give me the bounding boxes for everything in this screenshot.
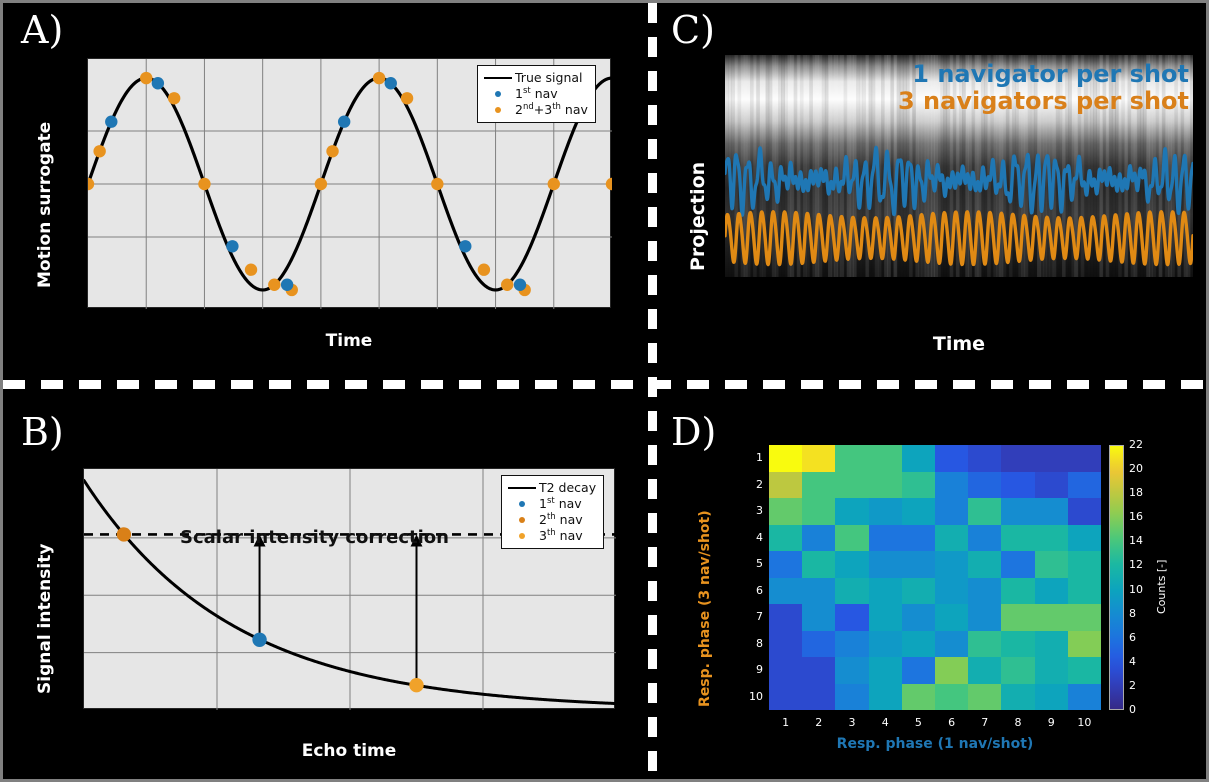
heatmap-cell [1068, 472, 1101, 499]
panel-d-label: D) [671, 413, 716, 451]
heatmap-cell [902, 445, 935, 472]
heatmap-cell [1035, 551, 1068, 578]
legend-dot-swatch [507, 517, 537, 523]
heatmap-cell [935, 445, 968, 472]
panel-c-ylabel: Projection [687, 162, 709, 271]
heatmap-cell [769, 684, 802, 711]
panel-c-annotation-3-nav: 3 navigators per shot [897, 87, 1189, 115]
panel-d-colorbar-tick: 14 [1129, 534, 1143, 547]
heatmap-cell [869, 604, 902, 631]
panel-c: C) Projection 1 navigator per shot 3 nav… [657, 3, 1209, 380]
heatmap-cell [835, 498, 868, 525]
heatmap-cell [935, 657, 968, 684]
heatmap-cell [769, 525, 802, 552]
panel-d-ytick: 4 [733, 531, 763, 544]
heatmap-cell [769, 657, 802, 684]
legend-line-swatch [483, 77, 513, 80]
panel-d-ytick: 7 [733, 610, 763, 623]
panel-a-legend-item: True signal [483, 70, 588, 86]
heatmap-cell [935, 525, 968, 552]
heatmap-cell [1001, 445, 1034, 472]
heatmap-cell [1001, 631, 1034, 658]
panel-d-ylabel: Resp. phase (3 nav/shot) [697, 510, 713, 707]
heatmap-cell [1001, 525, 1034, 552]
heatmap-cell [802, 684, 835, 711]
panel-b-ylabel: Signal intensity [35, 544, 55, 694]
heatmap-cell [802, 578, 835, 605]
heatmap-cell [968, 657, 1001, 684]
legend-item-label: 3th nav [537, 528, 583, 545]
heatmap-cell [935, 631, 968, 658]
panel-d-colorbar-tick: 16 [1129, 510, 1143, 523]
legend-item-label: 1st nav [537, 496, 582, 513]
panel-d-ytick: 2 [733, 478, 763, 491]
heatmap-cell [1035, 472, 1068, 499]
panel-d-xtick: 3 [837, 716, 867, 729]
panel-d-xtick: 7 [970, 716, 1000, 729]
heatmap-cell [769, 551, 802, 578]
heatmap-cell [802, 525, 835, 552]
heatmap-cell [802, 631, 835, 658]
heatmap-cell [1035, 684, 1068, 711]
legend-dot-swatch [483, 91, 513, 97]
panel-d-ytick: 6 [733, 584, 763, 597]
panel-a-legend-item: 1st nav [483, 86, 588, 102]
panel-d-xtick: 4 [870, 716, 900, 729]
heatmap-cell [935, 472, 968, 499]
heatmap-cell [1001, 551, 1034, 578]
heatmap-cell [869, 631, 902, 658]
heatmap-cell [1035, 445, 1068, 472]
heatmap-cell [902, 525, 935, 552]
panel-d-colorbar-tick: 10 [1129, 583, 1143, 596]
panel-d-xtick: 9 [1036, 716, 1066, 729]
heatmap-cell [902, 498, 935, 525]
panel-d-xtick: 2 [804, 716, 834, 729]
heatmap-cell [1068, 684, 1101, 711]
heatmap-cell [1068, 525, 1101, 552]
heatmap-cell [1001, 472, 1034, 499]
heatmap-cell [802, 551, 835, 578]
heatmap-cell [1068, 551, 1101, 578]
heatmap-cell [1035, 604, 1068, 631]
heatmap-cell [1001, 604, 1034, 631]
panel-b-legend-item: T2 decay [507, 480, 596, 496]
heatmap-cell [802, 472, 835, 499]
heatmap-cell [802, 657, 835, 684]
heatmap-cell [902, 657, 935, 684]
heatmap-cell [835, 684, 868, 711]
panel-a-legend: True signal1st nav2nd+3th nav [477, 65, 596, 123]
heatmap-cell [769, 445, 802, 472]
heatmap-cell [835, 525, 868, 552]
heatmap-cell [902, 631, 935, 658]
panel-d-ytick: 10 [733, 690, 763, 703]
heatmap-cell [968, 631, 1001, 658]
heatmap-cell [1001, 657, 1034, 684]
vertical-divider [648, 3, 657, 782]
panel-c-xlabel: Time [725, 333, 1193, 355]
heatmap-cell [869, 445, 902, 472]
heatmap-cell [935, 684, 968, 711]
horizontal-divider [3, 380, 1209, 389]
panel-d-ytick: 8 [733, 637, 763, 650]
panel-b-annotation: Scalar intensity correction [180, 527, 449, 548]
heatmap-cell [835, 578, 868, 605]
legend-dot-swatch [507, 533, 537, 539]
legend-dot-swatch [507, 501, 537, 507]
heatmap-cell [802, 604, 835, 631]
legend-item-label: 2th nav [537, 512, 583, 529]
heatmap-cell [869, 525, 902, 552]
panel-d-xtick: 10 [1069, 716, 1099, 729]
legend-item-label: T2 decay [537, 480, 596, 497]
heatmap-cell [869, 657, 902, 684]
panel-b-label: B) [21, 413, 64, 451]
heatmap-cell [1068, 657, 1101, 684]
heatmap-cell [1035, 631, 1068, 658]
panel-d-xtick: 6 [937, 716, 967, 729]
heatmap-cell [802, 498, 835, 525]
heatmap-cell [835, 551, 868, 578]
panel-d-ytick: 3 [733, 504, 763, 517]
panel-d-xlabel: Resp. phase (1 nav/shot) [769, 736, 1101, 752]
panel-d-colorbar-tick: 2 [1129, 679, 1136, 692]
legend-item-label: 1st nav [513, 86, 558, 103]
heatmap-cell [1035, 657, 1068, 684]
heatmap-cell [1035, 525, 1068, 552]
heatmap-cell [902, 472, 935, 499]
panel-d-ytick: 9 [733, 663, 763, 676]
heatmap-cell [1068, 578, 1101, 605]
panel-d-ytick: 5 [733, 557, 763, 570]
panel-b-legend: T2 decay1st nav2th nav3th nav [501, 475, 604, 549]
heatmap-cell [902, 551, 935, 578]
heatmap-cell [968, 498, 1001, 525]
panel-b: B) Signal intensity Scalar intensity cor… [3, 389, 648, 782]
panel-d-colorbar-tick: 8 [1129, 607, 1136, 620]
heatmap-cell [1035, 498, 1068, 525]
panel-d-colorbar-tick: 20 [1129, 462, 1143, 475]
heatmap-cell [769, 631, 802, 658]
heatmap-cell [968, 445, 1001, 472]
heatmap-cell [935, 578, 968, 605]
panel-d-colorbar-tick: 22 [1129, 438, 1143, 451]
heatmap-cell [902, 684, 935, 711]
heatmap-cell [902, 578, 935, 605]
panel-d-xtick: 1 [771, 716, 801, 729]
heatmap-cell [968, 472, 1001, 499]
heatmap-cell [935, 498, 968, 525]
heatmap-cell [902, 604, 935, 631]
panel-d: D) Resp. phase (3 nav/shot) Counts [-] R… [657, 389, 1209, 782]
panel-c-label: C) [671, 11, 715, 49]
panel-b-xlabel: Echo time [83, 741, 615, 761]
panel-a: A) Motion surrogate True signal1st nav2n… [3, 3, 648, 380]
heatmap-cell [1001, 684, 1034, 711]
panel-d-colorbar-tick: 12 [1129, 558, 1143, 571]
heatmap-cell [1001, 498, 1034, 525]
heatmap-cell [869, 472, 902, 499]
panel-b-legend-item: 3th nav [507, 528, 596, 544]
panel-d-xtick: 5 [903, 716, 933, 729]
heatmap-cell [769, 472, 802, 499]
heatmap-cell [869, 684, 902, 711]
heatmap-cell [935, 604, 968, 631]
legend-item-label: 2nd+3th nav [513, 102, 588, 119]
heatmap-cell [1035, 578, 1068, 605]
heatmap-cell [968, 578, 1001, 605]
heatmap-cell [802, 445, 835, 472]
heatmap-cell [869, 551, 902, 578]
heatmap-cell [835, 445, 868, 472]
legend-dot-swatch [483, 107, 513, 113]
heatmap-cell [1068, 631, 1101, 658]
heatmap-cell [968, 604, 1001, 631]
heatmap-cell [1001, 578, 1034, 605]
heatmap-cell [968, 551, 1001, 578]
panel-d-colorbar-tick: 0 [1129, 703, 1136, 716]
heatmap-cell [769, 578, 802, 605]
heatmap-cell [769, 604, 802, 631]
panel-b-legend-item: 2th nav [507, 512, 596, 528]
heatmap-cell [869, 498, 902, 525]
heatmap-cell [935, 551, 968, 578]
heatmap-cell [1068, 445, 1101, 472]
panel-d-colorbar-tick: 6 [1129, 631, 1136, 644]
heatmap-cell [835, 657, 868, 684]
panel-b-legend-item: 1st nav [507, 496, 596, 512]
figure-root: A) Motion surrogate True signal1st nav2n… [0, 0, 1209, 782]
heatmap-cell [1068, 604, 1101, 631]
heatmap-cell [869, 578, 902, 605]
panel-d-heatmap [769, 445, 1101, 710]
heatmap-cell [835, 472, 868, 499]
heatmap-cell [835, 631, 868, 658]
panel-d-ytick: 1 [733, 451, 763, 464]
legend-item-label: True signal [513, 70, 583, 87]
panel-d-colorbar [1109, 445, 1124, 710]
panel-a-label: A) [21, 11, 63, 49]
panel-c-annotation-1-nav: 1 navigator per shot [897, 60, 1189, 88]
panel-a-ylabel: Motion surrogate [35, 122, 55, 288]
legend-line-swatch [507, 487, 537, 490]
heatmap-cell [968, 525, 1001, 552]
panel-a-xlabel: Time [87, 331, 611, 351]
panel-d-colorbar-tick: 4 [1129, 655, 1136, 668]
panel-d-colorbar-label: Counts [-] [1155, 560, 1168, 614]
heatmap-cell [1068, 498, 1101, 525]
heatmap-cell [769, 498, 802, 525]
heatmap-cell [968, 684, 1001, 711]
heatmap-cell [835, 604, 868, 631]
panel-a-legend-item: 2nd+3th nav [483, 102, 588, 118]
panel-d-xtick: 8 [1003, 716, 1033, 729]
panel-d-colorbar-tick: 18 [1129, 486, 1143, 499]
